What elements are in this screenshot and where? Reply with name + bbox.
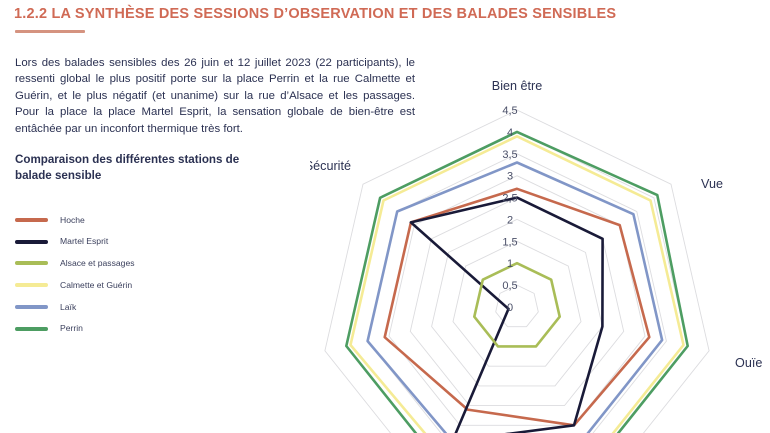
legend-item-label: Hoche — [60, 216, 85, 225]
legend-item-label: Calmette et Guérin — [60, 281, 132, 290]
legend-color-swatch — [15, 218, 48, 222]
radar-series-hoche — [385, 189, 650, 425]
radar-grid-ring — [410, 198, 623, 406]
legend-color-swatch — [15, 240, 48, 244]
legend-item[interactable]: Martel Esprit — [15, 234, 245, 250]
title-underline-rule — [15, 30, 85, 33]
radar-series-martel-esprit — [411, 198, 603, 433]
page-title: 1.2.2 LA SYNTHÈSE DES SESSIONS D’OBSERVA… — [14, 6, 616, 22]
legend-item[interactable]: Hoche — [15, 212, 245, 228]
legend-item-label: Martel Esprit — [60, 237, 108, 246]
legend-color-swatch — [15, 305, 48, 309]
chart-caption: Comparaison des différentes stations de … — [15, 152, 245, 183]
page-root: 1.2.2 LA SYNTHÈSE DES SESSIONS D’OBSERVA… — [0, 0, 770, 433]
radar-tick-label: 2,5 — [502, 193, 517, 205]
legend-item[interactable]: Perrin — [15, 321, 245, 337]
radar-axis-label-vue: Vue — [701, 177, 723, 191]
legend-item-label: Laïk — [60, 303, 76, 312]
radar-chart-svg: 00,511,522,533,544,5Bien êtreVueOuïeConf… — [310, 78, 770, 433]
legend-item[interactable]: Calmette et Guérin — [15, 277, 245, 293]
radar-tick-label: 4,5 — [502, 105, 517, 117]
radar-tick-label: 3,5 — [502, 149, 517, 161]
radar-tick-label: 1,5 — [502, 236, 517, 248]
legend-item-label: Perrin — [60, 324, 83, 333]
radar-tick-label: 4 — [507, 127, 513, 139]
radar-axis-label-s-curit-: Sécurité — [310, 159, 351, 173]
radar-tick-label: 0 — [507, 302, 513, 314]
radar-axis-label-bien-tre: Bien être — [492, 79, 542, 93]
radar-axis-label-ou-e: Ouïe — [735, 356, 762, 370]
legend-color-swatch — [15, 283, 48, 287]
radar-chart: 00,511,522,533,544,5Bien êtreVueOuïeConf… — [310, 78, 770, 433]
chart-legend: HocheMartel EspritAlsace et passagesCalm… — [15, 212, 245, 343]
radar-tick-label: 3 — [507, 171, 513, 183]
legend-item[interactable]: Alsace et passages — [15, 256, 245, 272]
legend-item-label: Alsace et passages — [60, 259, 135, 268]
legend-item[interactable]: Laïk — [15, 299, 245, 315]
radar-tick-label: 2 — [507, 214, 513, 226]
radar-series-alsace-et-passages — [474, 263, 559, 346]
legend-color-swatch — [15, 327, 48, 331]
legend-color-swatch — [15, 261, 48, 265]
radar-tick-label: 1 — [507, 258, 513, 270]
radar-tick-label: 0,5 — [502, 280, 517, 292]
